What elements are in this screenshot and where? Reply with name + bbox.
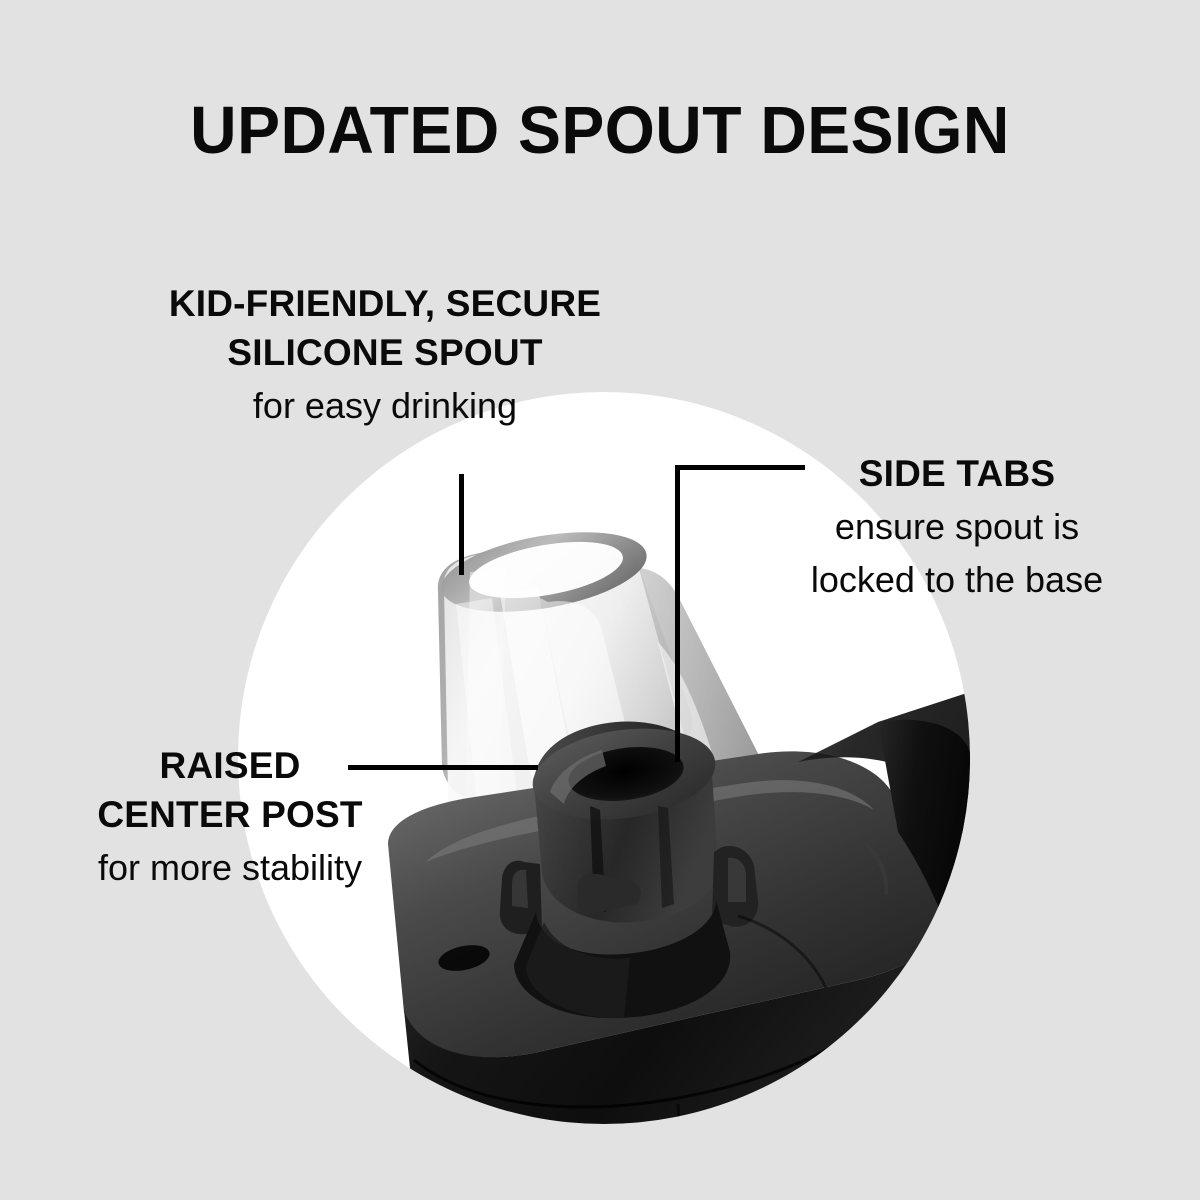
callout-side-tabs-subtext-line1: ensure spout is: [757, 504, 1157, 551]
callout-side-tabs-heading: SIDE TABS: [757, 449, 1157, 498]
callout-raised-center-post: RAISED CENTER POST for more stability: [30, 741, 430, 892]
callout-side-tabs-subtext-line2: locked to the base: [757, 557, 1157, 604]
callout-side-tabs: SIDE TABS ensure spout is locked to the …: [757, 449, 1157, 604]
callout-raised-center-post-heading-line1: RAISED: [30, 741, 430, 790]
leader-line-side-tabs-vertical: [675, 465, 680, 762]
callout-silicone-spout-heading-line2: SILICONE SPOUT: [80, 328, 690, 377]
leader-line-silicone-spout: [459, 474, 464, 575]
callout-raised-center-post-heading-line2: CENTER POST: [30, 790, 430, 839]
callout-silicone-spout: KID-FRIENDLY, SECURE SILICONE SPOUT for …: [80, 279, 690, 430]
callout-silicone-spout-heading-line1: KID-FRIENDLY, SECURE: [80, 279, 690, 328]
callout-raised-center-post-subtext: for more stability: [30, 845, 430, 892]
page-title: UPDATED SPOUT DESIGN: [24, 97, 1176, 164]
infographic-canvas: UPDATED SPOUT DESIGN: [0, 0, 1200, 1200]
callout-silicone-spout-subtext: for easy drinking: [80, 383, 690, 430]
